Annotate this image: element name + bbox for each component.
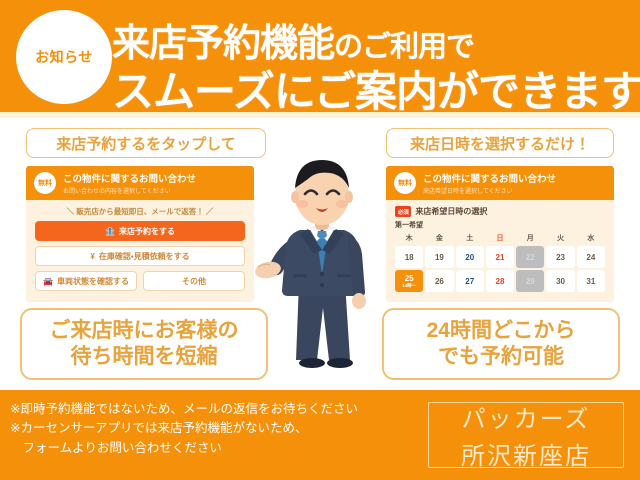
calendar-weekday: 月 xyxy=(516,232,544,244)
calendar-day-number: 22 xyxy=(526,253,535,262)
mock-button-visit-reservation[interactable]: 🏦 来店予約をする xyxy=(35,221,245,241)
calendar-weekday: 日 xyxy=(486,232,514,244)
calendar-day-cell[interactable]: 21 xyxy=(486,246,514,268)
car-icon: 🚘 xyxy=(43,277,53,286)
mock-card-header: 無料 この物件に関するお問い合わせ お問い合わせの内容を選択してください xyxy=(26,166,254,200)
mock-button-other-label: その他 xyxy=(182,276,206,287)
mock-button-stock-estimate[interactable]: ¥ 在庫確認・見積依頼をする xyxy=(35,246,245,266)
calendar-weekday: 火 xyxy=(546,232,574,244)
mock-button-row: 🚘 車両状態を確認する その他 xyxy=(35,271,245,291)
disclaimer-line: フォームよりお問い合わせください xyxy=(10,439,414,458)
mock-reply-note: ＼ 販売店から最短即日、メールで返答！ ／ xyxy=(26,200,254,221)
calendar-day-cell[interactable]: 28 xyxy=(486,270,514,292)
notice-badge-label: お知らせ xyxy=(35,47,93,67)
calendar-day-cell[interactable]: 26 xyxy=(425,270,453,292)
calendar-weekday: 土 xyxy=(456,232,484,244)
calendar-day-number: 31 xyxy=(586,277,595,286)
mock-calendar-header: 無料 この物件に関するお問い合わせ 来店希望日時を選択してください xyxy=(386,166,614,200)
benefit-wait-time: ご来店時にお客様の 待ち時間を短縮 xyxy=(20,308,268,380)
calendar-weekday: 木 xyxy=(395,232,423,244)
calendar-day-number: 24 xyxy=(586,253,595,262)
benefit-24h-line2: でも予約可能 xyxy=(438,344,564,370)
notice-badge: お知らせ xyxy=(16,10,112,104)
store-name-line2: 所沢新座店 xyxy=(461,436,591,471)
calendar-weekday-row: 木金土日月火水 xyxy=(395,232,605,244)
calendar-day-number: 18 xyxy=(405,253,414,262)
store-icon: 🏦 xyxy=(105,227,115,236)
mock-button-visit-reservation-label: 来店予約をする xyxy=(119,226,175,237)
calendar-day-cell: 29 xyxy=(516,270,544,292)
mock-calendar-header-subtitle: 来店希望日時を選択してください xyxy=(423,186,556,195)
mock-calendar-card: 無料 この物件に関するお問い合わせ 来店希望日時を選択してください 必須 来店希… xyxy=(386,166,614,302)
calendar-weekday: 水 xyxy=(577,232,605,244)
calendar-day-number: 26 xyxy=(435,277,444,286)
store-name-box: パッカーズ 所沢新座店 xyxy=(428,402,624,468)
benefit-24h-line1: 24時間どこから xyxy=(427,318,576,344)
free-badge-icon: 無料 xyxy=(34,172,56,194)
benefit-wait-time-line1: ご来店時にお客様の xyxy=(50,318,239,344)
main-content-panel: 来店予約するをタップして 来店日時を選択するだけ！ 無料 この物件に関するお問い… xyxy=(0,118,640,390)
calendar-title-row: 必須 来店希望日時の選択 xyxy=(395,206,605,217)
calendar-title: 来店希望日時の選択 xyxy=(415,206,487,217)
disclaimer-line: ※カーセンサーアプリでは来店予約機能がないため、 xyxy=(10,419,414,438)
calendar-day-cell[interactable]: 31 xyxy=(577,270,605,292)
headline-line-2: スムーズにご案内ができます xyxy=(112,58,640,118)
mock-inquiry-card: 無料 この物件に関するお問い合わせ お問い合わせの内容を選択してください ＼ 販… xyxy=(26,166,254,302)
mock-button-other[interactable]: その他 xyxy=(143,271,245,291)
calendar-day-cell[interactable]: 23 xyxy=(546,246,574,268)
calendar-day-number: 23 xyxy=(556,253,565,262)
free-badge-icon: 無料 xyxy=(394,172,416,194)
benefit-24h: 24時間どこから でも予約可能 xyxy=(382,308,620,380)
calendar-day-number: 21 xyxy=(496,253,505,262)
required-badge: 必須 xyxy=(395,206,411,217)
calendar-day-cell[interactable]: 18 xyxy=(395,246,423,268)
calendar-preference-label: 第一希望 xyxy=(395,220,605,230)
footer-band: ※即時予約機能ではないため、メールの返信をお待ちください※カーセンサーアプリでは… xyxy=(0,390,640,480)
mock-header-title: この物件に関するお問い合わせ xyxy=(63,171,196,185)
calendar-day-grid[interactable]: 181920212223242514時〜262728293031 xyxy=(395,246,605,292)
header-banner: お知らせ 来店予約機能のご利用で スムーズにご案内ができます xyxy=(0,0,640,118)
mock-button-vehicle-condition[interactable]: 🚘 車両状態を確認する xyxy=(35,271,137,291)
calendar-day-cell[interactable]: 19 xyxy=(425,246,453,268)
calendar-day-cell[interactable]: 30 xyxy=(546,270,574,292)
calendar-day-time: 14時〜 xyxy=(402,284,416,289)
benefit-wait-time-line2: 待ち時間を短縮 xyxy=(71,344,218,370)
disclaimer-text: ※即時予約機能ではないため、メールの返信をお待ちください※カーセンサーアプリでは… xyxy=(10,400,414,458)
calendar-weekday: 金 xyxy=(425,232,453,244)
calendar-day-number: 28 xyxy=(496,277,505,286)
calendar-day-number: 27 xyxy=(465,277,474,286)
calendar-day-cell: 22 xyxy=(516,246,544,268)
calendar-day-cell[interactable]: 2514時〜 xyxy=(395,270,423,292)
mock-header-subtitle: お問い合わせの内容を選択してください xyxy=(63,186,196,195)
step-pill-tap-reservation: 来店予約するをタップして xyxy=(26,128,266,158)
calendar-day-cell[interactable]: 27 xyxy=(456,270,484,292)
disclaimer-line: ※即時予約機能ではないため、メールの返信をお待ちください xyxy=(10,400,414,419)
calendar-day-cell[interactable]: 24 xyxy=(577,246,605,268)
salesman-illustration xyxy=(252,154,392,390)
step-pill-select-datetime: 来店日時を選択するだけ！ xyxy=(386,128,614,158)
calendar-day-number: 19 xyxy=(435,253,444,262)
yen-icon: ¥ xyxy=(90,252,94,261)
calendar-day-number: 20 xyxy=(465,253,474,262)
calendar-day-number: 25 xyxy=(405,274,414,283)
calendar-day-number: 29 xyxy=(526,277,535,286)
calendar-day-cell[interactable]: 20 xyxy=(456,246,484,268)
store-name-line1: パッカーズ xyxy=(462,399,591,434)
calendar-body: 必須 来店希望日時の選択 第一希望 木金土日月火水 18192021222324… xyxy=(386,200,614,292)
calendar-day-number: 30 xyxy=(556,277,565,286)
mock-button-vehicle-condition-label: 車両状態を確認する xyxy=(57,276,129,287)
mock-calendar-header-title: この物件に関するお問い合わせ xyxy=(423,171,556,185)
mock-button-stock-estimate-label: 在庫確認・見積依頼をする xyxy=(99,251,190,262)
